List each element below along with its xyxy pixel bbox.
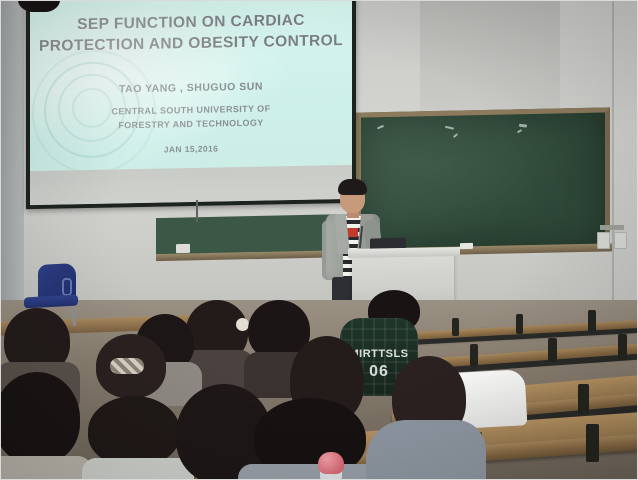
bench-bracket (618, 334, 627, 360)
lecture-hall-photo: SEP FUNCTION ON CARDIAC PROTECTION AND O… (0, 0, 638, 480)
bench-bracket (586, 424, 599, 462)
light-switch-icon[interactable] (614, 232, 627, 249)
screen-pull-cord[interactable] (196, 200, 198, 222)
bench-bracket (516, 314, 523, 334)
projection-screen-surface: SEP FUNCTION ON CARDIAC PROTECTION AND O… (30, 0, 352, 205)
chalkboard-texture (361, 112, 605, 249)
audience-member (186, 300, 248, 372)
student-hair (88, 396, 180, 466)
bench-bracket (452, 318, 459, 336)
slide-organization: CENTRAL SOUTH UNIVERSITY OF FORESTRY AND… (30, 101, 352, 135)
audience-member (0, 372, 80, 480)
bench-bracket (578, 384, 589, 414)
wall-fixture (600, 225, 624, 230)
chalk-box (176, 244, 190, 253)
chalkboard (356, 107, 610, 254)
slide-title: SEP FUNCTION ON CARDIAC PROTECTION AND O… (30, 9, 352, 58)
projection-screen-lower (30, 165, 352, 205)
audience-member (366, 420, 486, 480)
light-switch-icon[interactable] (597, 232, 610, 249)
presenter-badge (347, 228, 358, 237)
bench-bracket (548, 338, 557, 362)
audience-member (254, 398, 366, 480)
bottle-cap (318, 452, 344, 474)
left-wall-strip (0, 0, 24, 318)
student-hair (0, 372, 80, 464)
glasses-icon (342, 193, 363, 199)
hair-scrunchie (110, 358, 144, 374)
bench-bracket (470, 344, 478, 366)
audience-member (88, 396, 180, 480)
chair-handle-cutout (62, 278, 72, 296)
bench-bracket (588, 310, 596, 332)
projected-slide: SEP FUNCTION ON CARDIAC PROTECTION AND O… (30, 0, 352, 173)
chalkboard-eraser (460, 243, 473, 249)
student-body (0, 456, 92, 480)
wall-seam (612, 0, 614, 320)
projection-screen: SEP FUNCTION ON CARDIAC PROTECTION AND O… (26, 0, 356, 209)
student-body (366, 420, 486, 480)
